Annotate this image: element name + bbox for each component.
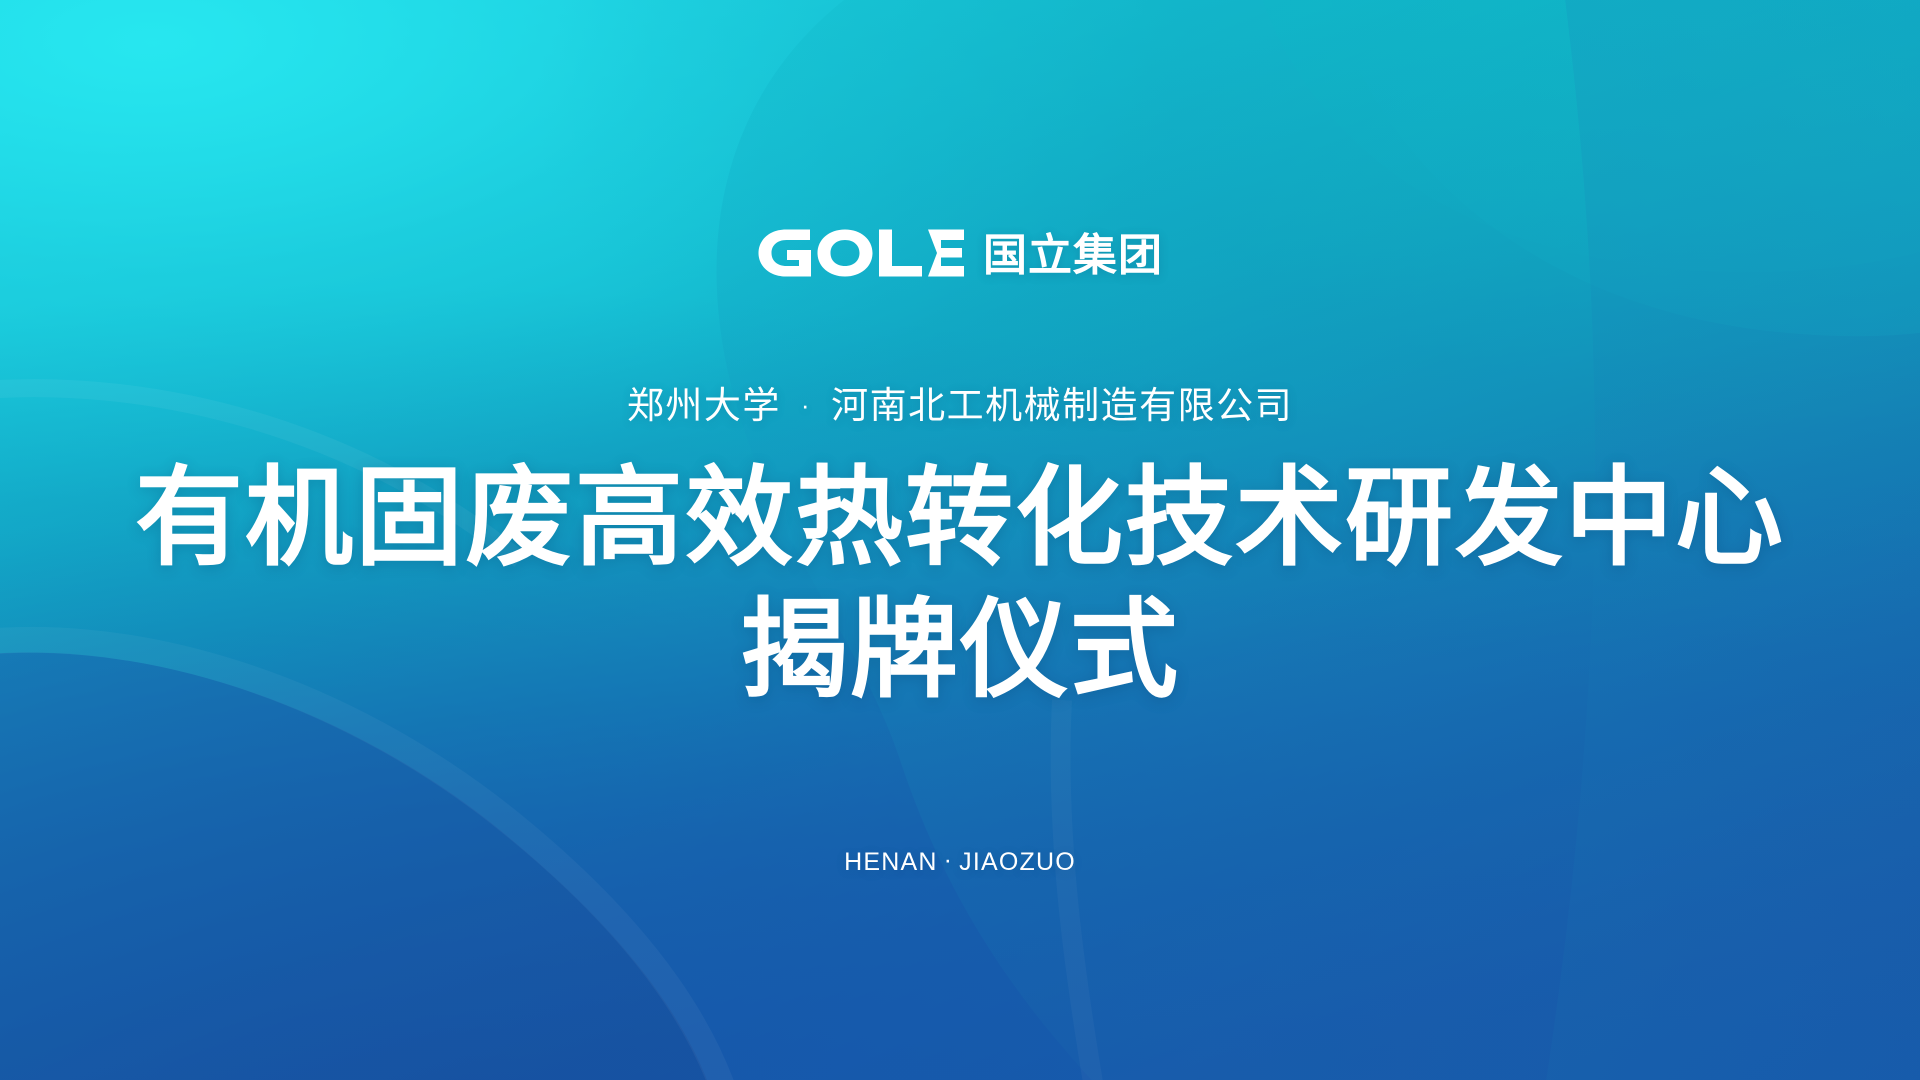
location-line: HENAN·JIAOZUO [0,846,1920,877]
location-city: JIAOZUO [959,848,1076,876]
location-separator: · [938,846,960,875]
brand-logo: 国立集团 [0,228,1920,283]
organization-primary: 郑州大学 [627,385,781,426]
brand-name-cn: 国立集团 [983,234,1163,278]
organizations-separator: · [781,390,831,421]
slide-content: 国立集团 郑州大学·河南北工机械制造有限公司 有机固废高效热转化技术研发中心 揭… [0,0,1920,1080]
title-slide: 国立集团 郑州大学·河南北工机械制造有限公司 有机固废高效热转化技术研发中心 揭… [0,0,1920,1080]
location-province: HENAN [844,848,938,876]
page-title: 有机固废高效热转化技术研发中心 揭牌仪式 [0,452,1920,716]
page-title-line-1: 有机固废高效热转化技术研发中心 [0,452,1920,584]
organizations-line: 郑州大学·河南北工机械制造有限公司 [0,375,1920,429]
organization-secondary: 河南北工机械制造有限公司 [831,385,1293,426]
gole-wordmark-logo-icon [757,228,965,283]
page-title-line-2: 揭牌仪式 [0,584,1920,716]
